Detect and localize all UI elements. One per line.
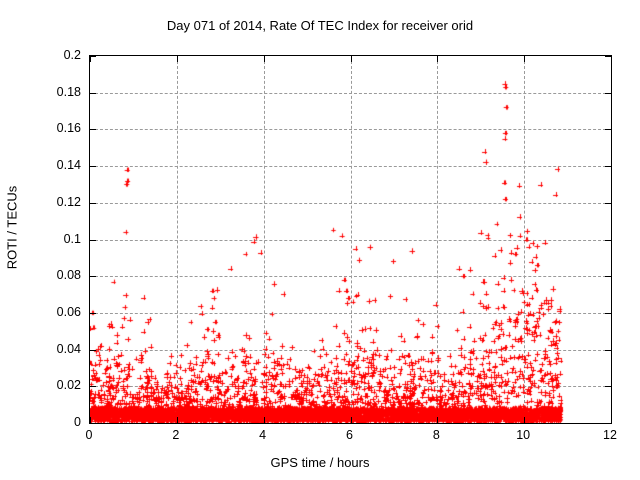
y-tick-mark [605, 203, 611, 204]
x-tick-label: 10 [503, 428, 543, 442]
x-tick-label: 6 [330, 428, 370, 442]
y-tick-label: 0.16 [1, 121, 81, 135]
x-tick-mark [437, 417, 438, 423]
y-tick-mark [605, 313, 611, 314]
y-tick-label: 0.2 [1, 48, 81, 62]
x-tick-label: 8 [416, 428, 456, 442]
chart-title: Day 071 of 2014, Rate Of TEC Index for r… [0, 18, 640, 33]
x-tick-label: 2 [156, 428, 196, 442]
y-tick-label: 0 [1, 415, 81, 429]
y-tick-mark [605, 129, 611, 130]
x-axis-label: GPS time / hours [0, 455, 640, 470]
y-tick-mark [90, 129, 96, 130]
x-tick-label: 0 [69, 428, 109, 442]
x-tick-mark [90, 417, 91, 423]
plot-frame [89, 55, 612, 424]
y-tick-mark [90, 203, 96, 204]
x-tick-label: 4 [243, 428, 283, 442]
y-tick-mark [605, 350, 611, 351]
x-tick-mark [264, 56, 265, 62]
y-tick-mark [90, 276, 96, 277]
y-tick-mark [90, 166, 96, 167]
chart-page: Day 071 of 2014, Rate Of TEC Index for r… [0, 0, 640, 480]
y-tick-mark [605, 240, 611, 241]
x-tick-mark [177, 56, 178, 62]
y-tick-mark [605, 166, 611, 167]
y-tick-mark [90, 93, 96, 94]
x-tick-mark [611, 56, 612, 62]
x-tick-mark [177, 417, 178, 423]
x-tick-mark [90, 56, 91, 62]
x-tick-mark [351, 417, 352, 423]
y-tick-mark [605, 386, 611, 387]
y-tick-label: 0.04 [1, 342, 81, 356]
y-axis-label: ROTI / TECUs [5, 148, 20, 308]
x-tick-mark [264, 417, 265, 423]
tick-marks [90, 56, 611, 423]
y-tick-mark [605, 276, 611, 277]
y-tick-label: 0.18 [1, 85, 81, 99]
y-tick-mark [90, 386, 96, 387]
y-tick-mark [90, 350, 96, 351]
x-tick-mark [611, 417, 612, 423]
x-tick-mark [437, 56, 438, 62]
y-tick-label: 0.02 [1, 378, 81, 392]
x-tick-mark [524, 417, 525, 423]
y-tick-mark [605, 93, 611, 94]
y-tick-mark [90, 313, 96, 314]
y-tick-mark [90, 240, 96, 241]
y-tick-mark [90, 423, 96, 424]
x-tick-label: 12 [590, 428, 630, 442]
y-tick-mark [605, 423, 611, 424]
x-tick-mark [351, 56, 352, 62]
x-tick-mark [524, 56, 525, 62]
